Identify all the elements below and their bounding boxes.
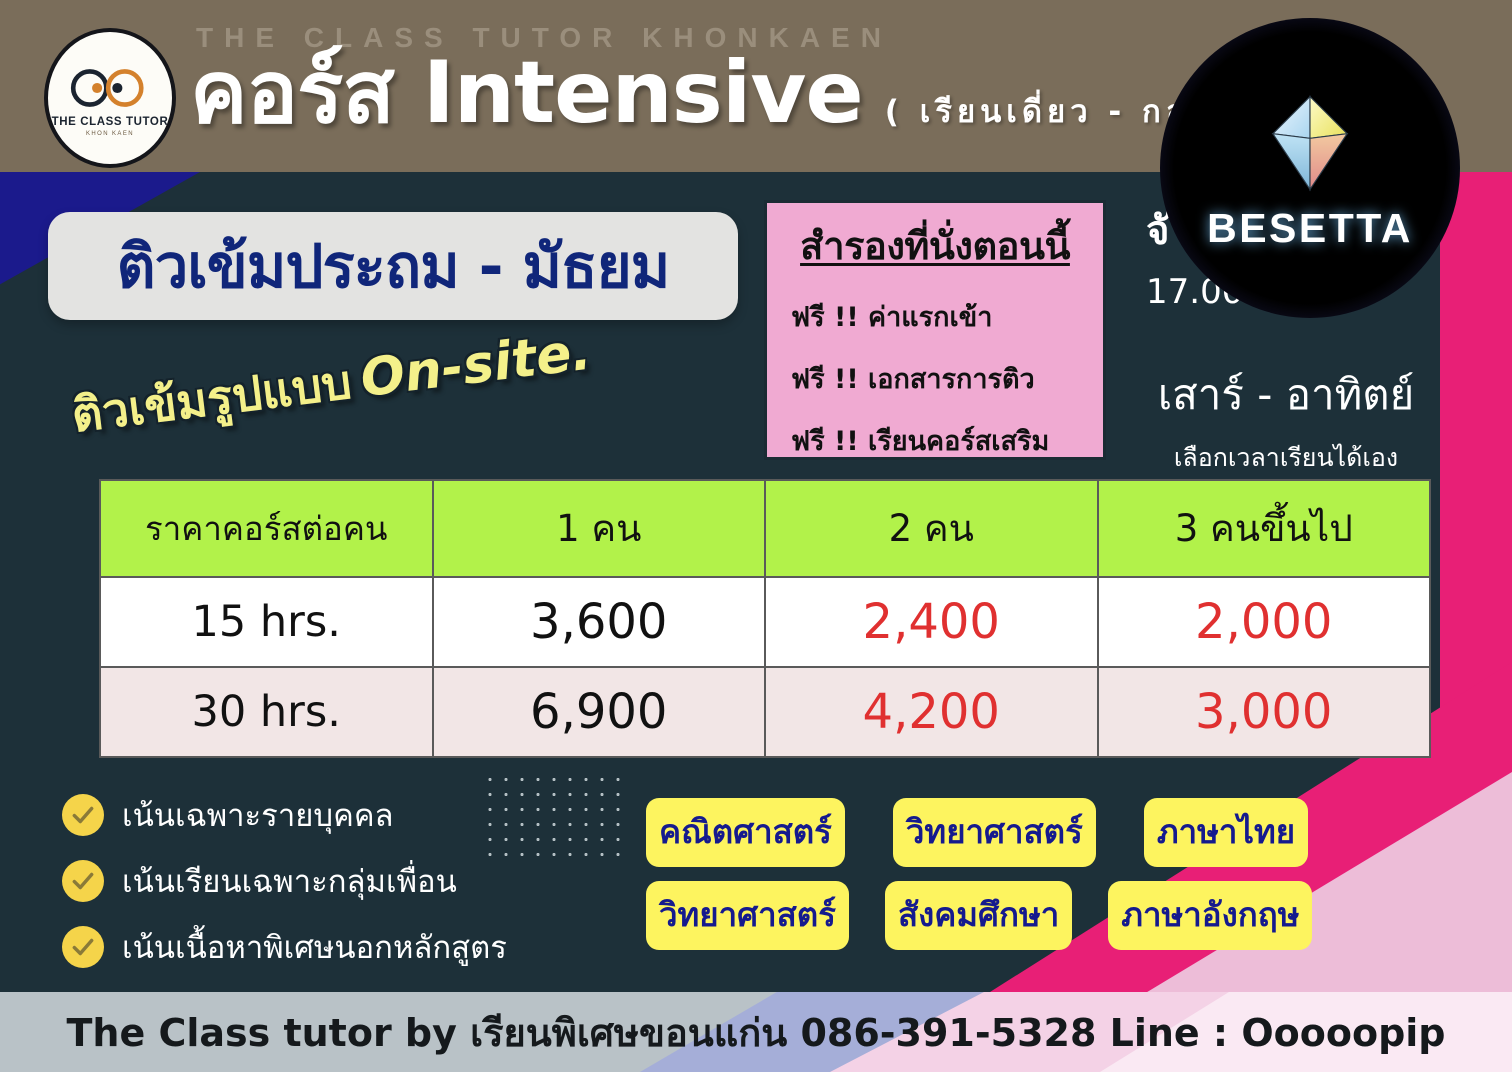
price-cell: 2,000: [1098, 577, 1431, 667]
watermark-label: BESETTA: [1207, 205, 1413, 252]
check-icon: [62, 860, 104, 902]
subject-tag: สังคมศึกษา: [885, 881, 1072, 950]
brand-logo: THE CLASS TUTOR KHON KAEN: [44, 28, 176, 168]
table-header-cell: ราคาคอร์สต่อคน: [100, 480, 433, 577]
promo-item: ฟรี !! เอกสารการติว: [781, 357, 1089, 400]
promo-item: ฟรี !! ค่าแรกเข้า: [781, 295, 1089, 338]
feature-list: เน้นเฉพาะรายบุคคล เน้นเรียนเฉพาะกลุ่มเพื…: [62, 790, 507, 988]
price-cell: 3,600: [433, 577, 766, 667]
infinity-icon: [64, 65, 156, 111]
table-header-cell: 3 คนขึ้นไป: [1098, 480, 1431, 577]
hero-pill-text: ติวเข้มประถม - มัธยม: [117, 219, 670, 314]
table-header-cell: 2 คน: [765, 480, 1098, 577]
table-row: 30 hrs. 6,900 4,200 3,000: [100, 667, 1430, 757]
contact-info: The Class tutor by เรียนพิเศษขอนแก่น 086…: [66, 1002, 1445, 1063]
promo-item: ฟรี !! เรียนคอร์สเสริม: [781, 419, 1089, 462]
table-row: 15 hrs. 3,600 2,400 2,000: [100, 577, 1430, 667]
hero-pill-heading: ติวเข้มประถม - มัธยม: [48, 212, 738, 320]
feature-label: เน้นเนื้อหาพิเศษนอกหลักสูตร: [122, 922, 507, 972]
row-label: 30 hrs.: [100, 667, 433, 757]
price-cell: 4,200: [765, 667, 1098, 757]
subject-tag: คณิตศาสตร์: [646, 798, 845, 867]
schedule-days: เสาร์ - อาทิตย์: [1146, 362, 1426, 428]
check-icon: [62, 794, 104, 836]
subject-tag: ภาษาไทย: [1144, 798, 1308, 867]
feature-label: เน้นเรียนเฉพาะกลุ่มเพื่อน: [122, 856, 457, 906]
page-title: คอร์ส Intensive: [190, 50, 863, 136]
row-label: 15 hrs.: [100, 577, 433, 667]
promo-poster: THE CLASS TUTOR KHON KAEN THE CLASS TUTO…: [0, 0, 1512, 1072]
feature-label: เน้นเฉพาะรายบุคคล: [122, 790, 394, 840]
table-header-row: ราคาคอร์สต่อคน 1 คน 2 คน 3 คนขึ้นไป: [100, 480, 1430, 577]
schedule-note: เลือกเวลาเรียนได้เอง: [1146, 438, 1426, 478]
check-icon: [62, 926, 104, 968]
price-table: ราคาคอร์สต่อคน 1 คน 2 คน 3 คนขึ้นไป 15 h…: [99, 479, 1431, 758]
logo-subtitle: KHON KAEN: [86, 131, 134, 137]
price-cell: 3,000: [1098, 667, 1431, 757]
logo-name: THE CLASS TUTOR: [52, 116, 169, 128]
header-title-row: คอร์ส Intensive ( เรียนเดี่ยว - กลุ่ม ): [190, 50, 1250, 136]
list-item: เน้นเรียนเฉพาะกลุ่มเพื่อน: [62, 856, 507, 906]
subject-tag-group: คณิตศาสตร์ วิทยาศาสตร์ ภาษาไทย วิทยาศาสต…: [646, 798, 1446, 964]
list-item: เน้นเนื้อหาพิเศษนอกหลักสูตร: [62, 922, 507, 972]
price-cell: 2,400: [765, 577, 1098, 667]
promo-box: สำรองที่นั่งตอนนี้ ฟรี !! ค่าแรกเข้า ฟรี…: [764, 200, 1106, 460]
subject-tag: วิทยาศาสตร์: [646, 881, 849, 950]
besetta-watermark: BESETTA: [1160, 18, 1460, 318]
subject-tag: วิทยาศาสตร์: [893, 798, 1096, 867]
list-item: เน้นเฉพาะรายบุคคล: [62, 790, 507, 840]
subject-tag-row: คณิตศาสตร์ วิทยาศาสตร์ ภาษาไทย: [646, 798, 1446, 867]
promo-title: สำรองที่นั่งตอนนี้: [781, 215, 1089, 276]
subject-tag: ภาษาอังกฤษ: [1108, 881, 1312, 950]
subject-tag-row: วิทยาศาสตร์ สังคมศึกษา ภาษาอังกฤษ: [646, 881, 1446, 950]
poster-footer: The Class tutor by เรียนพิเศษขอนแก่น 086…: [0, 992, 1512, 1072]
octahedron-gem-icon: [1252, 85, 1368, 201]
table-header-cell: 1 คน: [433, 480, 766, 577]
price-cell: 6,900: [433, 667, 766, 757]
